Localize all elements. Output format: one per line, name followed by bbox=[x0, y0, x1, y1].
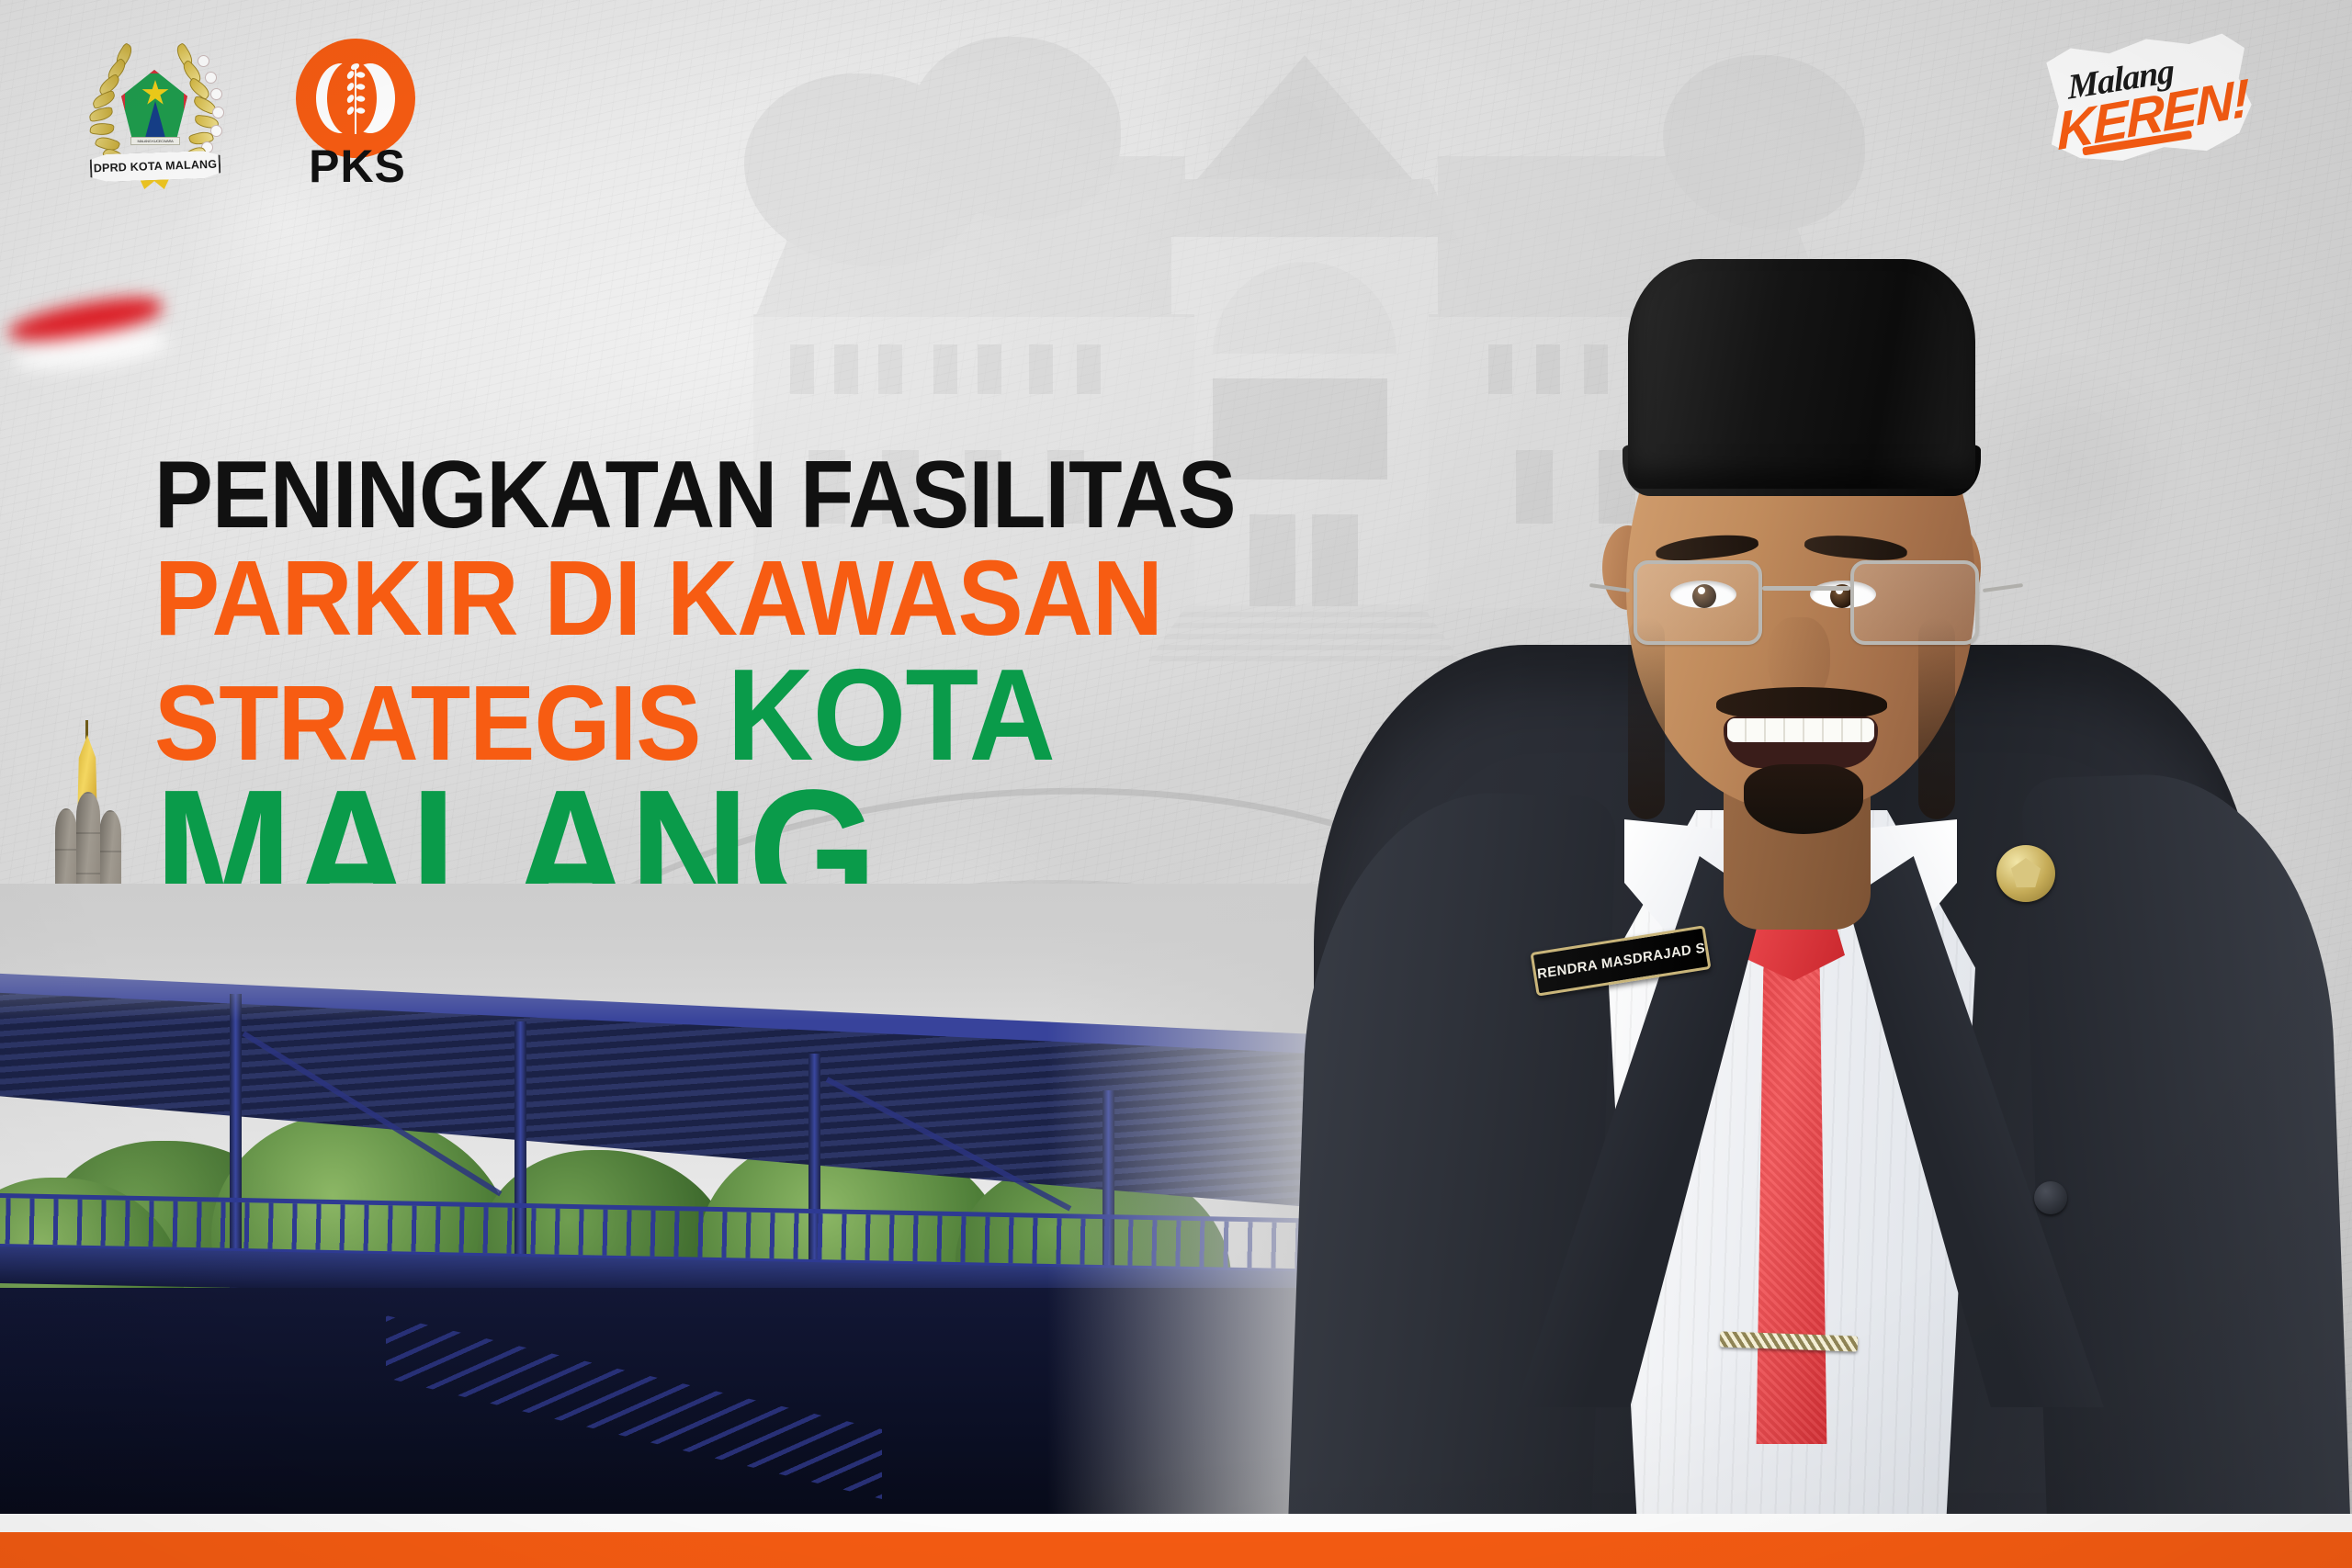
dprd-lapel-pin-icon bbox=[1996, 845, 2055, 902]
lens-left bbox=[1634, 560, 1762, 645]
teeth bbox=[1727, 718, 1874, 742]
lens-right bbox=[1850, 560, 1979, 645]
suit-shoulder-right bbox=[2021, 768, 2350, 1531]
glasses-temple-right bbox=[1983, 583, 2023, 592]
suit-button bbox=[2034, 1181, 2067, 1214]
cityhall-window bbox=[878, 344, 902, 394]
pks-wordmark: PKS bbox=[288, 140, 426, 193]
dprd-kota-malang-emblem: MALANG KUCECWARA DPRD KOTA MALANG bbox=[81, 39, 228, 186]
cityhall-window bbox=[834, 344, 858, 394]
dprd-ribbon-text: DPRD KOTA MALANG bbox=[94, 158, 218, 175]
chin-beard bbox=[1744, 764, 1863, 834]
shield-motto-text: MALANG KUCECWARA bbox=[130, 137, 180, 145]
cityhall-window bbox=[1029, 344, 1053, 394]
peci-hitam bbox=[1628, 259, 1975, 489]
poster-canvas: MALANG KUCECWARA DPRD KOTA MALANG bbox=[0, 0, 2352, 1568]
cityhall-window bbox=[790, 344, 814, 394]
cityhall-window bbox=[978, 344, 1001, 394]
footer-orange-bar bbox=[0, 1532, 2352, 1568]
glasses-bridge bbox=[1762, 586, 1850, 591]
moustache bbox=[1716, 687, 1887, 720]
portrait-rendra-masdrajad: RENDRA MASDRAJAD S bbox=[1213, 121, 2352, 1527]
footer-white-divider bbox=[0, 1514, 2352, 1532]
cityhall-window bbox=[1077, 344, 1101, 394]
logo-group: MALANG KUCECWARA DPRD KOTA MALANG bbox=[81, 39, 426, 193]
wheat-icon bbox=[345, 66, 366, 134]
pks-logo: PKS bbox=[288, 39, 426, 193]
cityhall-window bbox=[933, 344, 957, 394]
mouth bbox=[1724, 716, 1878, 768]
